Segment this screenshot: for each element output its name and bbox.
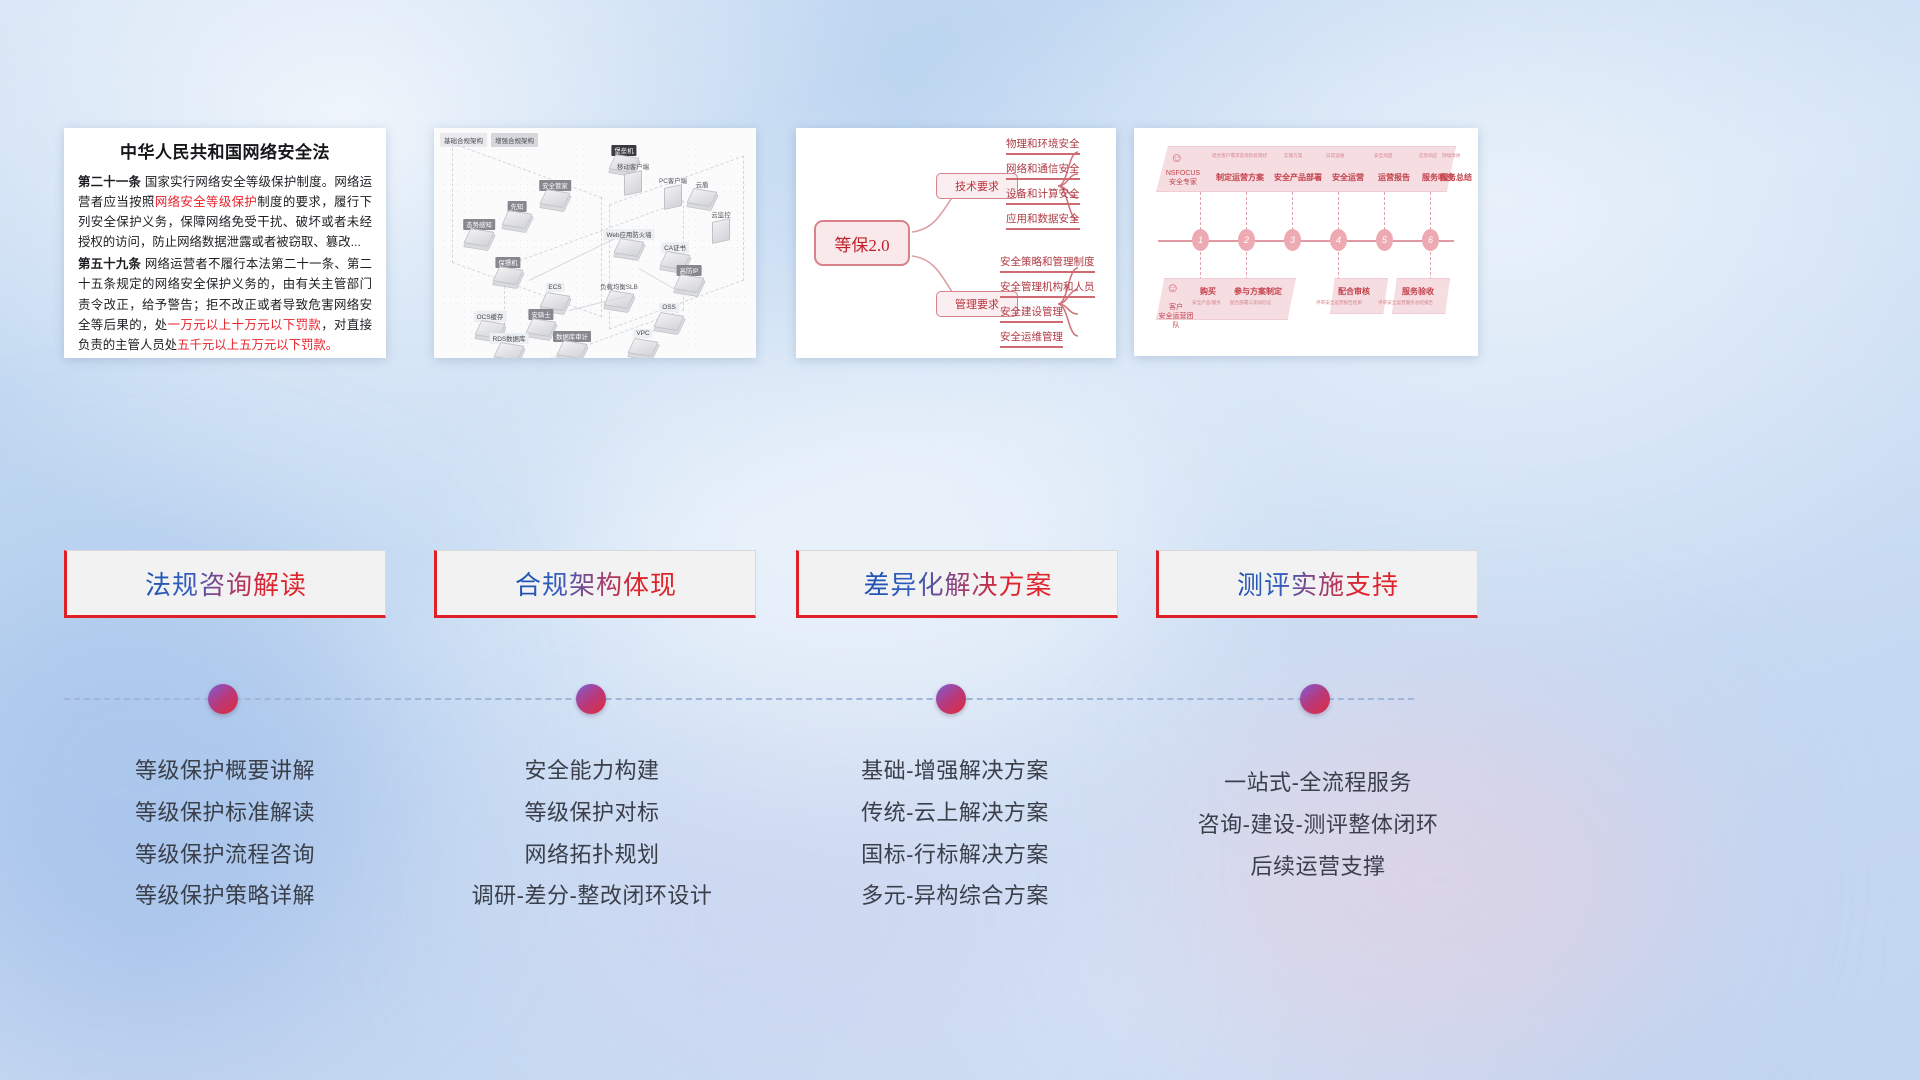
list-item: 安全能力构建 bbox=[412, 750, 772, 792]
section-title-2-label: 合规架构体现 bbox=[515, 565, 677, 602]
list-item: 等级保护策略详解 bbox=[45, 875, 405, 917]
section-title-1-label: 法规咨询解读 bbox=[145, 565, 307, 602]
section-title-3-label: 差异化解决方案 bbox=[863, 565, 1052, 602]
timeline-node-4[interactable] bbox=[1300, 684, 1330, 714]
list-item: 等级保护标准解读 bbox=[45, 792, 405, 834]
list-item: 等级保护概要讲解 bbox=[45, 750, 405, 792]
list-item: 一站式-全流程服务 bbox=[1138, 762, 1498, 804]
list-item: 等级保护流程咨询 bbox=[45, 834, 405, 876]
list-item: 调研-差分-整改闭环设计 bbox=[412, 875, 772, 917]
section-title-box-1[interactable]: 法规咨询解读 bbox=[64, 550, 386, 618]
list-item: 后续运营支撑 bbox=[1138, 846, 1498, 888]
list-item: 咨询-建设-测评整体闭环 bbox=[1138, 804, 1498, 846]
timeline-node-1[interactable] bbox=[208, 684, 238, 714]
list-item: 多元-异构综合方案 bbox=[775, 875, 1135, 917]
timeline-node-2[interactable] bbox=[576, 684, 606, 714]
section-1-item-list: 等级保护概要讲解 等级保护标准解读 等级保护流程咨询 等级保护策略详解 bbox=[45, 750, 405, 917]
list-item: 基础-增强解决方案 bbox=[775, 750, 1135, 792]
timeline-node-3[interactable] bbox=[936, 684, 966, 714]
list-item: 等级保护对标 bbox=[412, 792, 772, 834]
section-2-item-list: 安全能力构建 等级保护对标 网络拓扑规划 调研-差分-整改闭环设计 bbox=[412, 750, 772, 917]
list-item: 国标-行标解决方案 bbox=[775, 834, 1135, 876]
section-title-box-2[interactable]: 合规架构体现 bbox=[434, 550, 756, 618]
section-title-box-4[interactable]: 测评实施支持 bbox=[1156, 550, 1478, 618]
list-item: 网络拓扑规划 bbox=[412, 834, 772, 876]
section-titles: 法规咨询解读 合规架构体现 差异化解决方案 测评实施支持 等级保护概要讲解 等级… bbox=[0, 0, 1920, 1080]
list-item: 传统-云上解决方案 bbox=[775, 792, 1135, 834]
section-3-item-list: 基础-增强解决方案 传统-云上解决方案 国标-行标解决方案 多元-异构综合方案 bbox=[775, 750, 1135, 917]
timeline-dashed-line bbox=[64, 698, 1414, 700]
section-4-item-list: 一站式-全流程服务 咨询-建设-测评整体闭环 后续运营支撑 bbox=[1138, 762, 1498, 887]
section-title-4-label: 测评实施支持 bbox=[1237, 565, 1399, 602]
section-title-box-3[interactable]: 差异化解决方案 bbox=[796, 550, 1118, 618]
